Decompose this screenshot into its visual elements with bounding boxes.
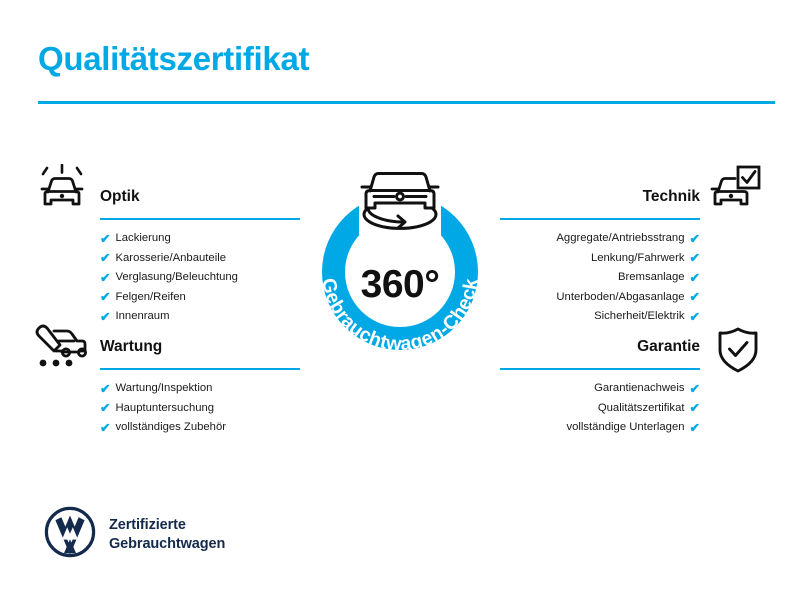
check-icon: ✔ [690, 233, 700, 246]
list-item-label: Hauptuntersuchung [115, 399, 214, 419]
section-garantie-divider [500, 368, 700, 371]
list-item-label: Sicherheit/Elektrik [594, 307, 684, 327]
section-technik: Technik Aggregate/Antriebsstrang ✔ Lenku… [500, 186, 700, 327]
section-garantie-title: Garantie [500, 336, 700, 358]
section-wartung-divider [100, 368, 300, 371]
check-icon: ✔ [690, 311, 700, 324]
list-item: ✔ Lackierung [100, 229, 300, 249]
list-item-label: vollständige Unterlagen [566, 418, 684, 438]
list-item: Garantienachweis ✔ [500, 379, 700, 399]
list-item: Unterboden/Abgasanlage ✔ [500, 288, 700, 308]
check-icon: ✔ [100, 252, 110, 265]
check-icon: ✔ [100, 272, 110, 285]
check-icon: ✔ [100, 311, 110, 324]
check-icon: ✔ [690, 422, 700, 435]
section-optik-divider [100, 218, 300, 221]
shield-check-icon [716, 326, 760, 379]
gebrauchtwagen-check-badge: Gebrauchtwagen-Check [297, 156, 503, 371]
check-icon: ✔ [690, 252, 700, 265]
section-technik-divider [500, 218, 700, 221]
car-shine-icon [36, 164, 88, 219]
list-item: ✔ Felgen/Reifen [100, 288, 300, 308]
list-item: ✔ Innenraum [100, 307, 300, 327]
section-technik-title: Technik [500, 186, 700, 208]
list-item: ✔ vollständiges Zubehör [100, 418, 300, 438]
section-optik: Optik ✔ Lackierung ✔ Karosserie/Anbautei… [100, 186, 300, 327]
list-item-label: Karosserie/Anbauteile [115, 249, 226, 269]
section-technik-list: Aggregate/Antriebsstrang ✔ Lenkung/Fahrw… [500, 229, 700, 327]
list-item: ✔ Verglasung/Beleuchtung [100, 268, 300, 288]
badge-number: 360° [297, 263, 503, 307]
section-technik-header: Technik [500, 186, 700, 220]
section-garantie: Garantie Garantienachweis ✔ Qualitätszer… [500, 336, 700, 438]
list-item-label: Qualitätszertifikat [598, 399, 685, 419]
lockup-line-1: Zertifizierte [109, 516, 225, 535]
list-item: Aggregate/Antriebsstrang ✔ [500, 229, 700, 249]
check-icon: ✔ [100, 402, 110, 415]
car-wrench-service-icon [34, 321, 90, 376]
list-item: ✔ Wartung/Inspektion [100, 379, 300, 399]
section-optik-header: Optik [100, 186, 300, 220]
section-optik-list: ✔ Lackierung ✔ Karosserie/Anbauteile ✔ V… [100, 229, 300, 327]
check-icon: ✔ [690, 291, 700, 304]
check-icon: ✔ [690, 272, 700, 285]
section-optik-title: Optik [100, 186, 300, 208]
certificate-page: Qualitätszertifikat [0, 0, 800, 600]
list-item-label: Aggregate/Antriebsstrang [556, 229, 684, 249]
check-icon: ✔ [100, 291, 110, 304]
list-item: Qualitätszertifikat ✔ [500, 399, 700, 419]
list-item: Sicherheit/Elektrik ✔ [500, 307, 700, 327]
list-item-label: Verglasung/Beleuchtung [115, 268, 237, 288]
list-item-label: Garantienachweis [594, 379, 684, 399]
volkswagen-lockup: Zertifizierte Gebrauchtwagen [44, 506, 225, 563]
volkswagen-logo [44, 506, 96, 563]
check-icon: ✔ [100, 422, 110, 435]
section-wartung: Wartung ✔ Wartung/Inspektion ✔ Hauptunte… [100, 336, 300, 438]
check-icon: ✔ [100, 233, 110, 246]
page-title: Qualitätszertifikat [38, 40, 309, 78]
check-icon: ✔ [690, 383, 700, 396]
list-item: ✔ Karosserie/Anbauteile [100, 249, 300, 269]
section-wartung-title: Wartung [100, 336, 300, 358]
volkswagen-lockup-text: Zertifizierte Gebrauchtwagen [109, 516, 225, 554]
section-garantie-header: Garantie [500, 336, 700, 370]
list-item-label: Bremsanlage [618, 268, 685, 288]
list-item-label: vollständiges Zubehör [115, 418, 226, 438]
list-item-label: Unterboden/Abgasanlage [556, 288, 684, 308]
list-item: Bremsanlage ✔ [500, 268, 700, 288]
list-item: Lenkung/Fahrwerk ✔ [500, 249, 700, 269]
list-item-label: Lackierung [115, 229, 170, 249]
list-item: ✔ Hauptuntersuchung [100, 399, 300, 419]
list-item-label: Felgen/Reifen [115, 288, 185, 308]
section-wartung-list: ✔ Wartung/Inspektion ✔ Hauptuntersuchung… [100, 379, 300, 438]
title-divider [38, 101, 775, 104]
list-item: vollständige Unterlagen ✔ [500, 418, 700, 438]
list-item-label: Innenraum [115, 307, 169, 327]
section-garantie-list: Garantienachweis ✔ Qualitätszertifikat ✔… [500, 379, 700, 438]
lockup-line-2: Gebrauchtwagen [109, 535, 225, 554]
check-icon: ✔ [100, 383, 110, 396]
check-icon: ✔ [690, 402, 700, 415]
list-item-label: Lenkung/Fahrwerk [591, 249, 685, 269]
list-item-label: Wartung/Inspektion [115, 379, 212, 399]
section-wartung-header: Wartung [100, 336, 300, 370]
car-checkbox-icon [708, 164, 762, 219]
